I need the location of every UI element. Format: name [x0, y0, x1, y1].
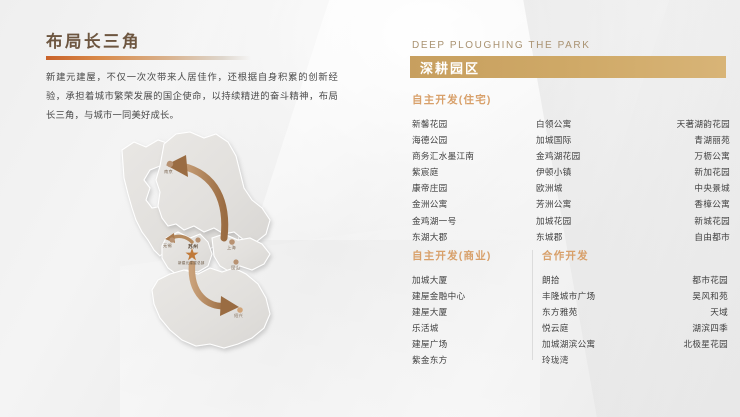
left-panel: 布局长三角 新建元建屋，不仅一次次带来人居佳作，还根据自身积累的创新经验，承担着… [0, 0, 390, 417]
list-item: 金鸡湖一号 [412, 213, 524, 229]
map-label-suzhou: 苏州 [188, 243, 198, 250]
list-item: 白领公寓 [536, 116, 632, 132]
list-item: 建屋广场 [412, 336, 532, 352]
list-item: 紫金东方 [412, 352, 532, 368]
map-region-zhejiang [152, 268, 270, 348]
map-dot-nanjing [167, 161, 173, 167]
list-item: 自由都市 [644, 229, 730, 245]
residential-column-2: 白领公寓 加城国际 金鸡湖花园 伊顿小镇 欧洲城 芳洲公寓 加城花园 东城郡 [536, 116, 632, 245]
list-item: 新城花园 [644, 213, 730, 229]
section-eyebrow-english: DEEP PLOUGHING THE PARK [412, 40, 591, 51]
intro-paragraph: 新建元建屋，不仅一次次带来人居佳作，还根据自身积累的创新经验，承担着城市繁荣发展… [46, 68, 338, 125]
map-dot-suzhou [195, 237, 200, 242]
slide-root: 布局长三角 新建元建屋，不仅一次次带来人居佳作，还根据自身积累的创新经验，承担着… [0, 0, 740, 417]
list-item: 丰隆城市广场 [542, 288, 646, 304]
list-item: 天域 [650, 304, 728, 320]
residential-column-3: 天著湖韵花园 青湖丽苑 万枥公寓 新加花园 中央景城 香樟公寓 新城花园 自由都… [644, 116, 730, 245]
map-label-headquarters: 新建元建屋总部 [178, 261, 205, 266]
group-heading-commercial: 自主开发(商业) [412, 248, 532, 263]
title-underline-rule [46, 56, 251, 60]
list-item: 北极星花园 [650, 336, 728, 352]
map-dot-shaoxing [237, 307, 243, 313]
map-svg [120, 122, 330, 362]
section-banner: 深耕园区 [410, 56, 726, 78]
map-label-kunshan: 昆山 [231, 265, 240, 271]
map-label-shanghai: 上海 [227, 245, 236, 251]
list-item: 中央景城 [644, 180, 730, 196]
map-dot-wuxi [169, 237, 174, 242]
list-item: 天著湖韵花园 [644, 116, 730, 132]
list-item: 建屋大厦 [412, 304, 532, 320]
list-item: 海德公园 [412, 132, 524, 148]
group-heading-residential: 自主开发(住宅) [412, 92, 730, 107]
residential-column-1: 新馨花园 海德公园 商务汇水墨江南 紫宸庭 康帝庄园 金洲公寓 金鸡湖一号 东湖… [412, 116, 524, 245]
list-item: 朗拾 [542, 272, 646, 288]
list-item: 香樟公寓 [644, 196, 730, 212]
map-label-wuxi: 无锡 [163, 243, 172, 249]
list-item: 建屋金融中心 [412, 288, 532, 304]
list-item: 万枥公寓 [644, 148, 730, 164]
list-item: 加城湖滨公寓 [542, 336, 646, 352]
map-region-shanghai [212, 234, 270, 272]
list-item: 康帝庄园 [412, 180, 524, 196]
list-item: 玲珑湾 [542, 352, 646, 368]
map-label-shaoxing: 绍兴 [234, 313, 243, 319]
list-item: 金洲公寓 [412, 196, 524, 212]
group-heading-cooperation: 合作开发 [542, 248, 728, 263]
list-item: 商务汇水墨江南 [412, 148, 524, 164]
map-dot-shanghai [229, 239, 235, 245]
list-item: 东湖大郡 [412, 229, 524, 245]
map-label-nanjing: 南京 [164, 169, 173, 175]
list-item: 悦云庭 [542, 320, 646, 336]
map-dot-kunshan [233, 259, 238, 264]
column-divider [532, 250, 533, 360]
list-item: 乐活城 [412, 320, 532, 336]
group-commercial: 自主开发(商业) 加城大厦 建屋金融中心 建屋大厦 乐活城 建屋广场 紫金东方 [412, 248, 532, 369]
list-item: 芳洲公寓 [536, 196, 632, 212]
cooperation-column-2: 都市花园 吴风和苑 天域 湖滨四季 北极星花园 [650, 272, 728, 369]
list-item: 加城花园 [536, 213, 632, 229]
cooperation-column-1: 朗拾 丰隆城市广场 东方雅苑 悦云庭 加城湖滨公寓 玲珑湾 [542, 272, 646, 369]
list-item: 都市花园 [650, 272, 728, 288]
section-banner-label: 深耕园区 [410, 58, 480, 77]
list-item: 加城国际 [536, 132, 632, 148]
list-item: 湖滨四季 [650, 320, 728, 336]
page-title: 布局长三角 [46, 28, 141, 52]
list-item: 新加花园 [644, 164, 730, 180]
group-cooperation: 合作开发 朗拾 丰隆城市广场 东方雅苑 悦云庭 加城湖滨公寓 玲珑湾 都市花园 … [542, 248, 728, 369]
list-item: 东方雅苑 [542, 304, 646, 320]
right-panel: DEEP PLOUGHING THE PARK 深耕园区 自主开发(住宅) 新馨… [400, 0, 740, 417]
group-residential: 自主开发(住宅) 新馨花园 海德公园 商务汇水墨江南 紫宸庭 康帝庄园 金洲公寓… [412, 92, 730, 245]
list-item: 青湖丽苑 [644, 132, 730, 148]
list-item: 欧洲城 [536, 180, 632, 196]
list-item: 加城大厦 [412, 272, 532, 288]
yangtze-delta-map: 南京 无锡 苏州 上海 昆山 绍兴 新建元建屋总部 [120, 122, 330, 362]
list-item: 伊顿小镇 [536, 164, 632, 180]
list-item: 紫宸庭 [412, 164, 524, 180]
list-item: 东城郡 [536, 229, 632, 245]
list-item: 吴风和苑 [650, 288, 728, 304]
list-item: 金鸡湖花园 [536, 148, 632, 164]
commercial-column-1: 加城大厦 建屋金融中心 建屋大厦 乐活城 建屋广场 紫金东方 [412, 272, 532, 369]
list-item: 新馨花园 [412, 116, 524, 132]
